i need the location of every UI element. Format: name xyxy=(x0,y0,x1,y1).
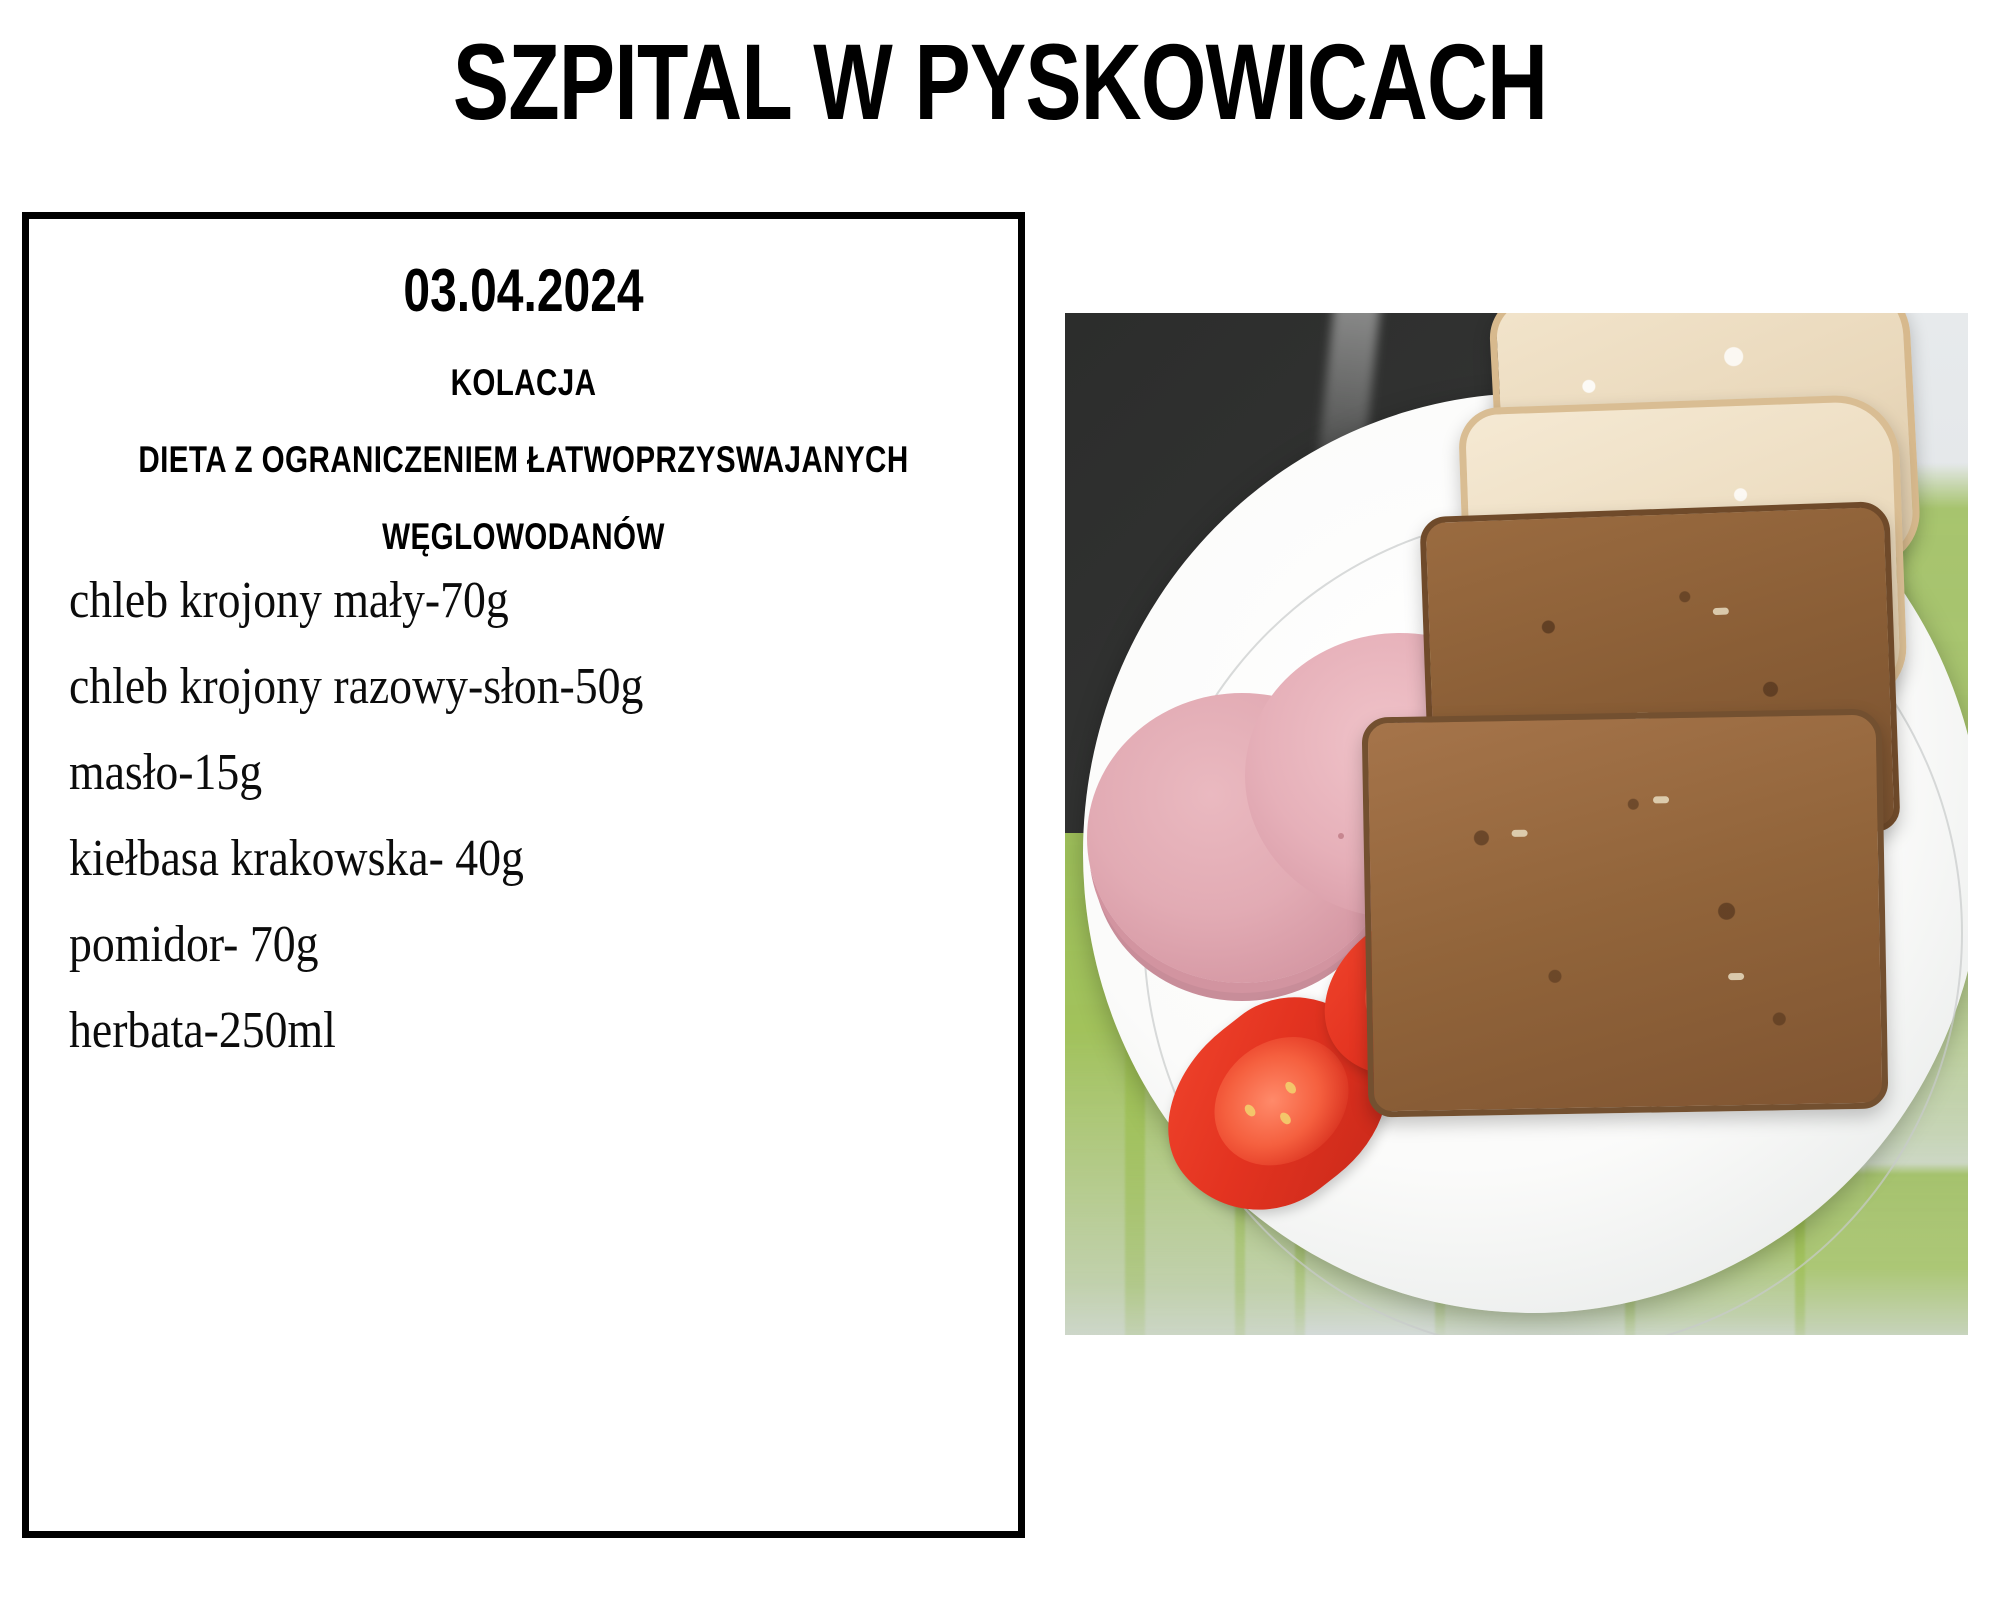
bread-grain xyxy=(1653,796,1669,803)
meal-photo xyxy=(1065,313,1968,1335)
list-item: chleb krojony mały-70g xyxy=(69,575,887,627)
meal-name: KOLACJA xyxy=(128,364,919,403)
page-title: SZPITAL W PYSKOWICACH xyxy=(220,28,1780,136)
bread-grain xyxy=(1713,608,1729,616)
photo-stage xyxy=(1065,313,1968,1335)
list-item: kiełbasa krakowska- 40g xyxy=(69,833,887,885)
list-item: pomidor- 70g xyxy=(69,919,887,971)
ham-speck xyxy=(1338,833,1344,839)
bread-grain xyxy=(1728,973,1744,980)
rye-bread-slice-front xyxy=(1362,708,1889,1117)
bread-grain xyxy=(1512,829,1528,836)
menu-card-header: 03.04.2024 KOLACJA DIETA Z OGRANICZENIEM… xyxy=(29,219,1018,557)
diet-name-line-2: WĘGLOWODANÓW xyxy=(128,518,919,557)
menu-card: 03.04.2024 KOLACJA DIETA Z OGRANICZENIEM… xyxy=(22,212,1025,1538)
list-item: herbata-250ml xyxy=(69,1005,887,1057)
menu-date: 03.04.2024 xyxy=(128,259,919,322)
food-items-list: chleb krojony mały-70g chleb krojony raz… xyxy=(69,575,998,1091)
list-item: masło-15g xyxy=(69,747,887,799)
diet-name-line-1: DIETA Z OGRANICZENIEM ŁATWOPRZYSWAJANYCH xyxy=(128,441,919,480)
list-item: chleb krojony razowy-słon-50g xyxy=(69,661,887,713)
